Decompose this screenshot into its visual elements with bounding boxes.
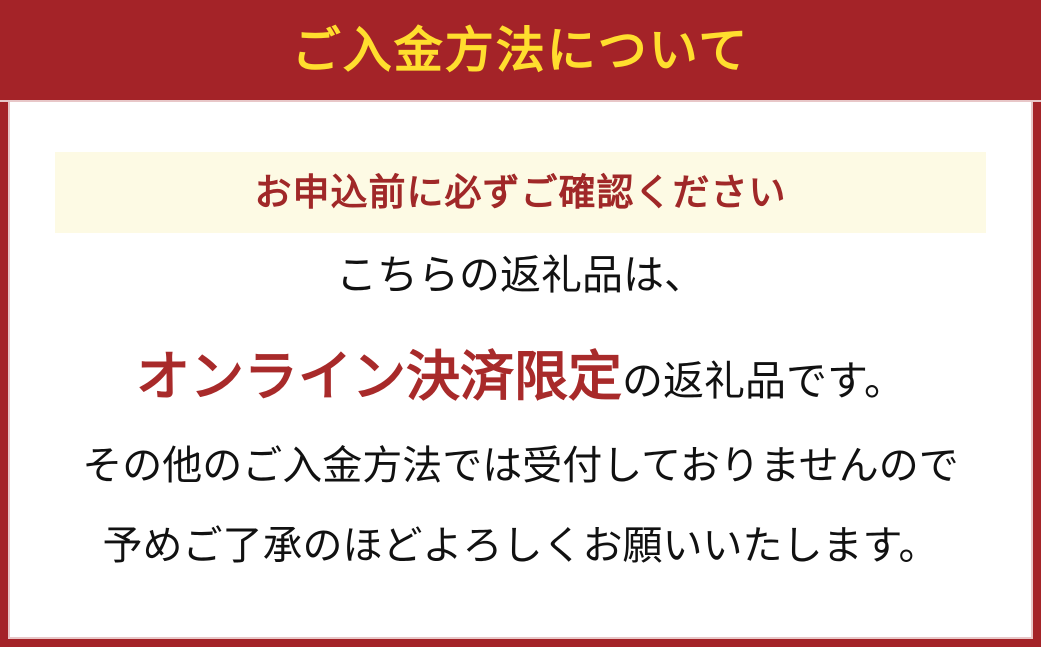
body-line-2-rest: の返礼品です。 xyxy=(622,357,905,405)
warning-banner-text: お申込前に必ずご確認ください xyxy=(255,174,787,211)
frame-hairline-right xyxy=(1031,100,1033,637)
content-area: お申込前に必ずご確認ください こちらの返礼品は、 オンライン決済限定の返礼品です… xyxy=(10,102,1031,637)
frame-hairline-bottom xyxy=(8,637,1033,639)
frame-border-left xyxy=(0,100,8,647)
body-line-3: その他のご入金方法では受付しておりませんので xyxy=(10,446,1031,486)
frame-border-bottom xyxy=(0,639,1041,647)
body-line-4: 予めご了承のほどよろしくお願いいたします。 xyxy=(10,526,1031,566)
page-title: ご入金方法について xyxy=(292,26,750,75)
header-band: ご入金方法について xyxy=(0,0,1041,100)
frame-border-right xyxy=(1033,100,1041,647)
warning-banner: お申込前に必ずご確認ください xyxy=(55,152,986,233)
payment-method-notice-poster: ご入金方法について お申込前に必ずご確認ください こちらの返礼品は、 オンライン… xyxy=(0,0,1041,647)
body-text-block: こちらの返礼品は、 オンライン決済限定の返礼品です。 その他のご入金方法では受付… xyxy=(10,233,1031,637)
online-payment-emphasis: オンライン決済限定 xyxy=(136,345,622,408)
body-line-1: こちらの返礼品は、 xyxy=(10,255,1031,296)
body-line-2: オンライン決済限定の返礼品です。 xyxy=(10,350,1031,404)
